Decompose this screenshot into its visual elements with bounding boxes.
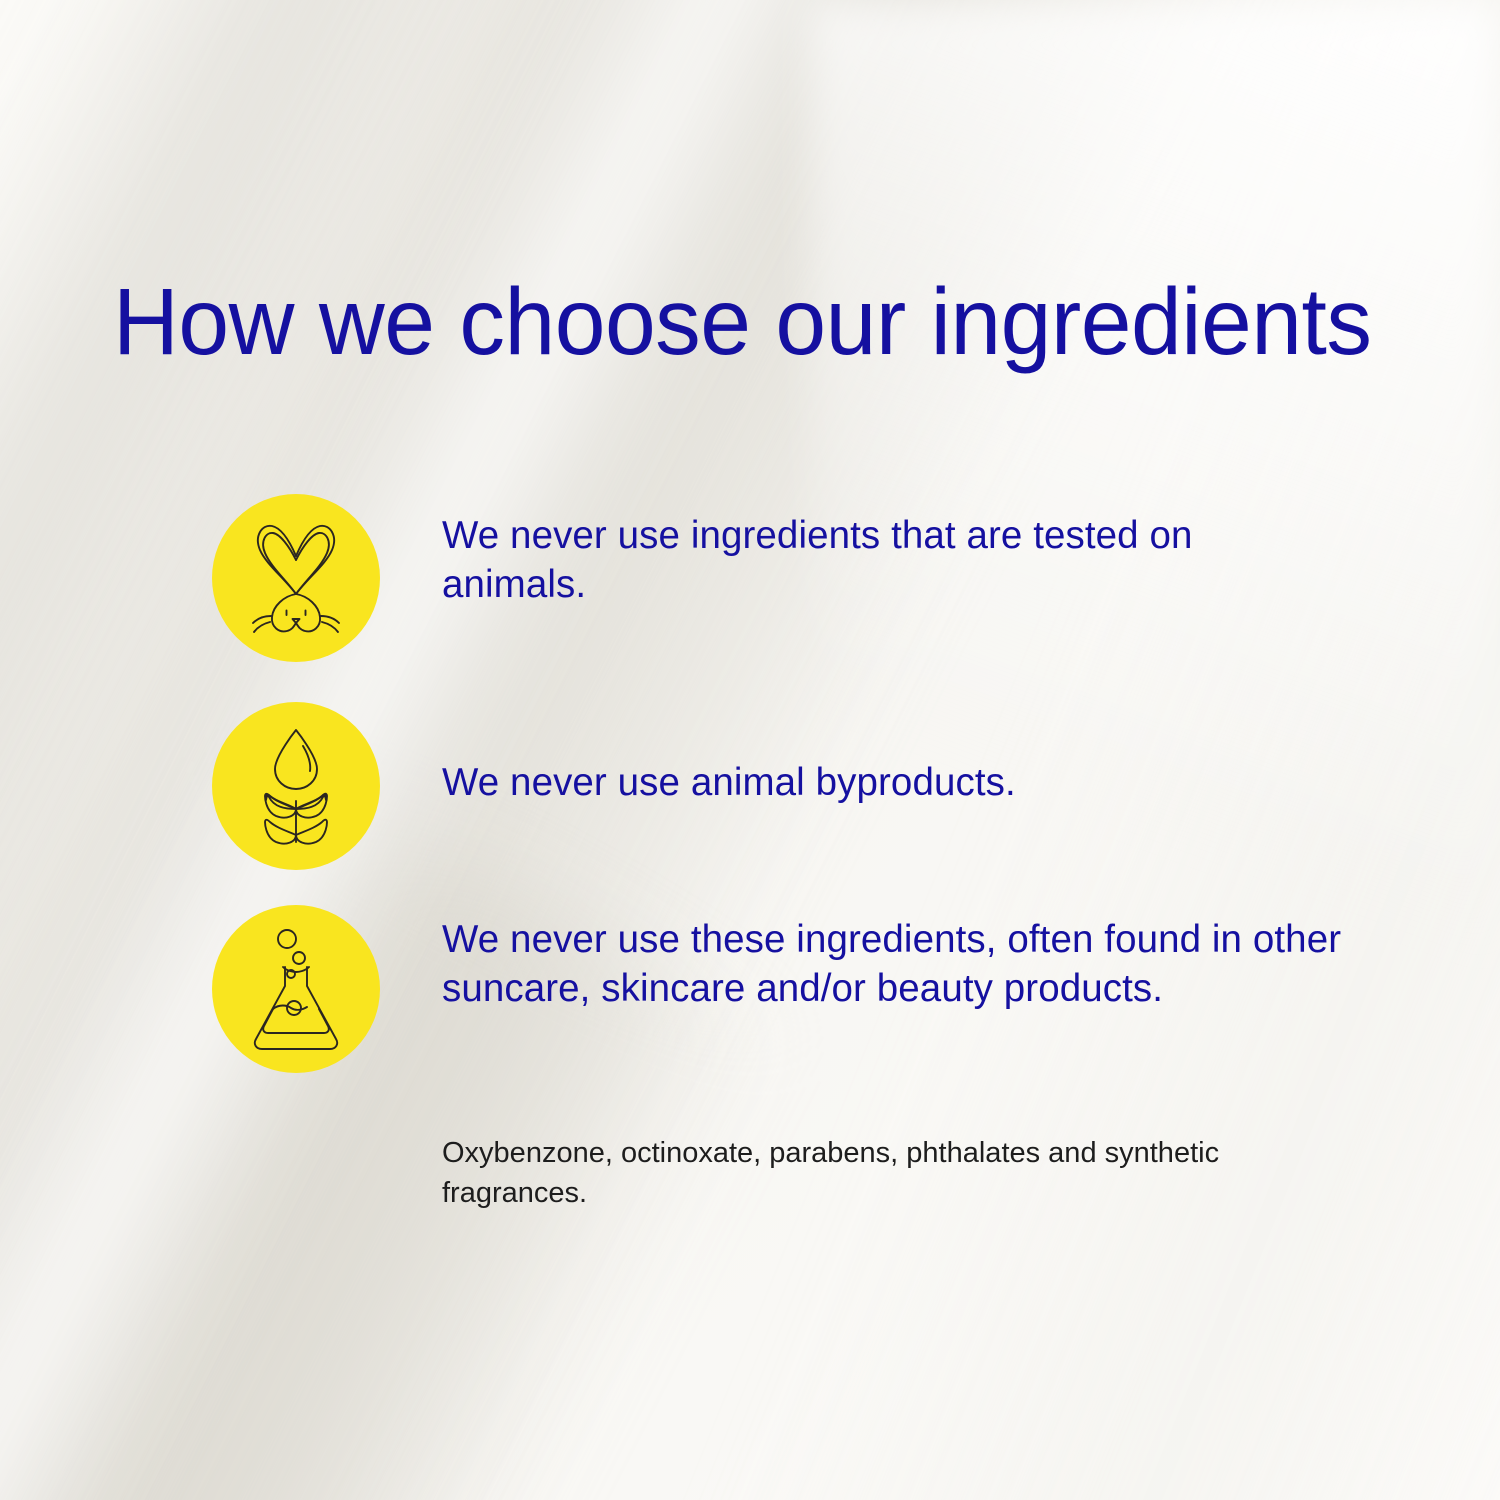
flask-bubbles-icon [212, 905, 380, 1073]
promo-panel: How we choose our ingredients [0, 0, 1500, 1500]
feature-text: We never use these ingredients, often fo… [442, 915, 1342, 1014]
feature-text: We never use animal byproducts. [442, 758, 1232, 807]
feature-note: Oxybenzone, octinoxate, parabens, phthal… [442, 1133, 1232, 1213]
droplet-plant-icon [212, 702, 380, 870]
feature-text: We never use ingredients that are tested… [442, 511, 1232, 610]
page-title: How we choose our ingredients [113, 275, 1372, 370]
bunny-heart-ears-icon [212, 494, 380, 662]
